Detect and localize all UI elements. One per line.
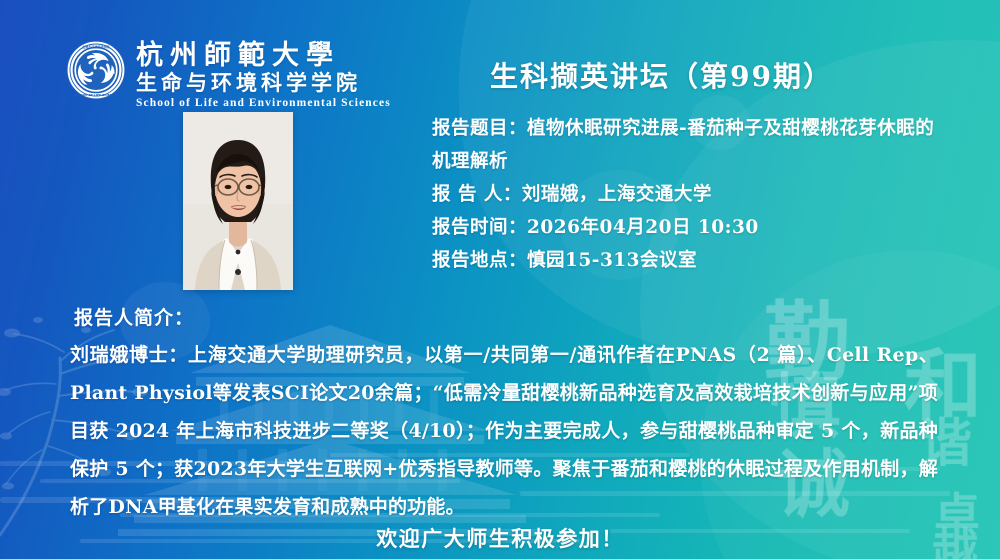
info-label-place: 报告地点： bbox=[432, 250, 527, 271]
brand-block: 生命与环境科学学院 SCHOOL OF LIFE SCIENCES 杭州師範大學… bbox=[66, 40, 391, 109]
info-value-time: 2026年04月20日 10:30 bbox=[527, 217, 759, 238]
page-title: 生科撷英讲坛（第99期） bbox=[490, 55, 833, 95]
portrait-illustration-icon bbox=[183, 112, 293, 290]
info-label-time: 报告时间： bbox=[432, 217, 527, 238]
brand-name-cn-secondary: 生命与环境科学学院 bbox=[136, 71, 391, 95]
brand-name-en: School of Life and Environmental Science… bbox=[136, 97, 391, 109]
svg-text:生命与环境科学学院: 生命与环境科学学院 bbox=[82, 44, 109, 49]
brand-text-block: 杭州師範大學 生命与环境科学学院 School of Life and Envi… bbox=[136, 42, 391, 109]
info-value-place: 慎园15-313会议室 bbox=[527, 250, 697, 271]
bio-text: 刘瑞娥博士：上海交通大学助理研究员，以第一/共同第一/通讯作者在PNAS（2 篇… bbox=[70, 336, 938, 526]
info-value-speaker: 刘瑞娥，上海交通大学 bbox=[522, 184, 712, 205]
brand-name-cn-primary: 杭州師範大學 bbox=[136, 42, 391, 70]
info-row-time: 报告时间：2026年04月20日 10:30 bbox=[432, 211, 952, 244]
info-label-speaker: 报 告 人： bbox=[432, 184, 522, 205]
info-row-speaker: 报 告 人：刘瑞娥，上海交通大学 bbox=[432, 178, 952, 211]
info-label-topic: 报告题目： bbox=[432, 118, 527, 139]
speaker-portrait-photo bbox=[183, 112, 293, 290]
bio-heading: 报告人简介： bbox=[74, 303, 194, 330]
info-row-place: 报告地点：慎园15-313会议室 bbox=[432, 244, 952, 277]
info-row-topic: 报告题目：植物休眠研究进展-番茄种子及甜樱桃花芽休眠的机理解析 bbox=[432, 112, 944, 178]
university-seal-icon: 生命与环境科学学院 SCHOOL OF LIFE SCIENCES bbox=[66, 40, 126, 100]
poster-root: 勤 慎 诚 和 谐 卓 越 生命与环境科学学院 SCHOOL OF LIFE S… bbox=[0, 0, 1000, 559]
svg-text:SCHOOL OF LIFE SCIENCES: SCHOOL OF LIFE SCIENCES bbox=[73, 93, 118, 97]
footer-cta-text: 欢迎广大师生积极参加！ bbox=[0, 523, 1000, 553]
lecture-info-block: 报告题目：植物休眠研究进展-番茄种子及甜樱桃花芽休眠的机理解析 报 告 人：刘瑞… bbox=[432, 112, 952, 277]
